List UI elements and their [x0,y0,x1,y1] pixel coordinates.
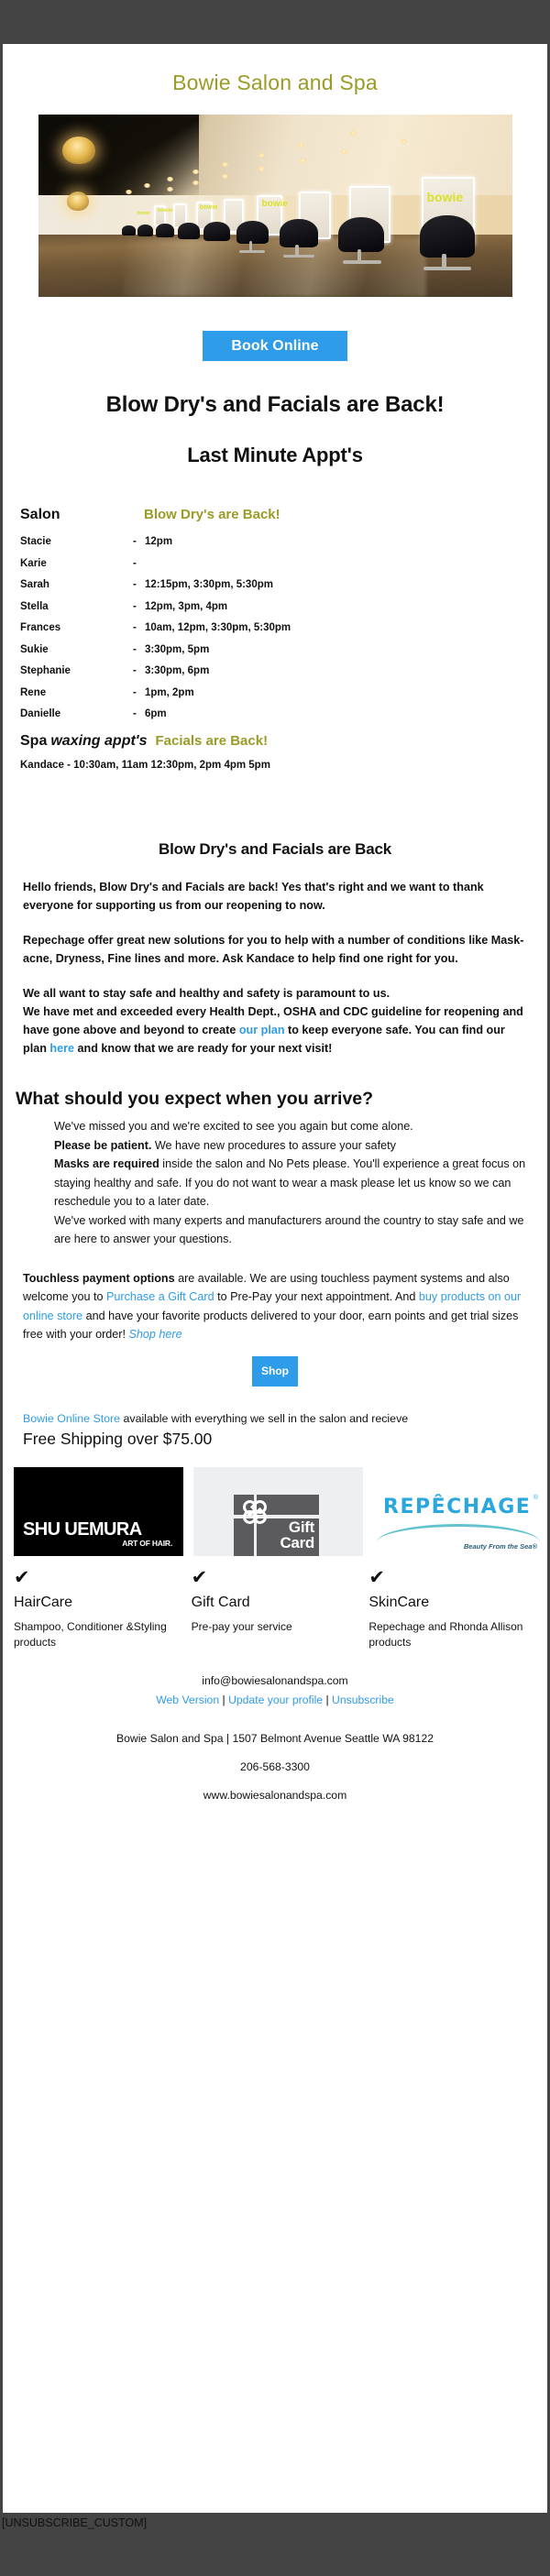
appointments-header: Salon Blow Dry's are Back! [20,507,547,523]
appointment-times: 3:30pm, 6pm [145,665,209,676]
shu-uemura-tagline: ART OF HAIR. [122,1539,172,1548]
check-icon: ✔ [368,1568,536,1588]
stylist-name: Stacie [20,536,133,547]
online-store-line: Bowie Online Store available with everyt… [23,1410,527,1428]
table-row: Sukie - 3:30pm, 5pm [20,644,547,655]
product-info-row: ✔ HairCare Shampoo, Conditioner &Styling… [14,1568,536,1650]
payment-text-2: to Pre-Pay your next appointment. And [214,1290,419,1303]
salon-chair [420,215,475,258]
bowie-wall-logo: bowie [200,204,218,211]
email-body-sheet: Bowie Salon and Spa [3,44,547,2513]
chair-base [239,250,265,253]
ceiling-light-icon [222,174,228,179]
spa-waxing-label: waxing appt's [50,733,147,750]
headline-last-minute-appts: Last Minute Appt's [3,418,547,467]
unsubscribe-link[interactable]: Unsubscribe [332,1694,394,1706]
table-row: Frances - 10am, 12pm, 3:30pm, 5:30pm [20,622,547,633]
ceiling-light-icon [167,187,173,192]
ceiling-light-icon [401,139,407,144]
appointments-list: Salon Blow Dry's are Back! Stacie - 12pm… [3,507,547,771]
salon-chair [137,225,153,236]
free-shipping-text: Free Shipping over $75.00 [23,1430,527,1449]
book-online-button[interactable]: Book Online [203,331,347,361]
headline-what-to-expect: What should you expect when you arrive? [16,1085,547,1110]
expect-bold-patient: Please be patient. [54,1139,151,1152]
bowie-online-store-link[interactable]: Bowie Online Store [23,1412,120,1425]
salon-chair [122,225,136,236]
expect-copy: We've missed you and we're excited to se… [54,1117,527,1249]
stylist-name: Frances [20,622,133,633]
safety-line-4: and know that we are ready for your next… [74,1042,332,1055]
stylist-name: Sukie [20,644,133,655]
appointment-times: 12:15pm, 3:30pm, 5:30pm [145,579,273,590]
hero-image-wrap: bowie bowie bowie bowie bowie [3,115,547,297]
safety-line-1: We all want to stay safe and healthy and… [23,987,390,1000]
salon-chair [178,223,200,239]
business-address: Bowie Salon and Spa | 1507 Belmont Avenu… [3,1732,547,1745]
product-description: Repechage and Rhonda Allison products [368,1619,536,1650]
table-row: Sarah - 12:15pm, 3:30pm, 5:30pm [20,579,547,590]
stylist-name: Stella [20,601,133,612]
blow-dry-tag: Blow Dry's are Back! [144,507,280,522]
payment-copy: Touchless payment options are available.… [23,1269,527,1344]
row-dash: - [133,558,145,569]
product-col-skincare[interactable]: REPÊCHAGE ® Beauty From the Sea® [373,1467,543,1556]
ceiling-light-icon [192,170,199,174]
stylist-name: Rene [20,687,133,698]
ceiling-light-icon [126,190,132,194]
ceiling-light-icon [222,162,228,167]
chair-base [283,255,314,258]
intro-paragraph-1: Hello friends, Blow Dry's and Facials ar… [23,878,527,915]
ceiling-light-icon [167,177,173,181]
bowie-wall-logo: bowie [262,199,288,209]
expect-line-2: We have new procedures to assure your sa… [151,1139,395,1152]
product-description: Shampoo, Conditioner &Styling products [14,1619,181,1650]
expect-line-4: We've worked with many experts and manuf… [54,1214,523,1246]
repechage-wordmark: REPÊCHAGE [383,1496,531,1518]
chair-base [343,260,381,264]
row-dash: - [133,665,145,676]
facials-tag: Facials are Back! [156,733,269,749]
table-row: Rene - 1pm, 2pm [20,687,547,698]
gift-card-label: GiftCard [280,1519,314,1551]
salon-chair [236,221,269,244]
product-col-giftcard[interactable]: GiftCard [193,1467,363,1556]
shop-button-row: Shop [3,1344,547,1387]
page-title: Bowie Salon and Spa [3,44,547,95]
ceiling-light-icon [258,167,265,171]
appointment-times: 1pm, 2pm [145,687,194,698]
row-dash: - [133,622,145,633]
footer-separator: | [323,1694,332,1706]
table-row: Danielle - 6pm [20,708,547,719]
row-dash: - [133,708,145,719]
salon-chair [203,222,230,241]
footer-separator: | [219,1694,228,1706]
row-dash: - [133,579,145,590]
product-description: Pre-pay your service [192,1619,359,1635]
book-online-row: Book Online [3,297,547,361]
ceiling-light-icon [192,181,199,185]
purchase-gift-card-link[interactable]: Purchase a Gift Card [106,1290,214,1303]
appointment-times: 3:30pm, 5pm [145,644,209,655]
table-row: Karie - [20,558,547,569]
ceiling-light-icon [258,153,265,158]
ceiling-light-icon [300,159,306,163]
business-phone: 206-568-3300 [3,1760,547,1773]
appointment-times: 6pm [145,708,167,719]
touchless-bold: Touchless payment options [23,1272,175,1285]
here-link[interactable]: here [49,1042,74,1055]
bowie-wall-logo: bowie [137,211,150,216]
appointment-times: 12pm, 3pm, 4pm [145,601,227,612]
ceiling-light-icon [350,131,357,136]
gift-bow-icon [242,1500,269,1526]
stylist-name: Danielle [20,708,133,719]
product-title: HairCare [14,1595,181,1611]
bowie-wall-logo: bowie [158,208,173,214]
product-col-haircare[interactable]: SHU UEMURA ART OF HAIR. [14,1467,183,1556]
check-icon: ✔ [14,1568,181,1588]
top-dark-bar [0,0,550,44]
bowie-wall-logo: bowie [427,190,464,204]
our-plan-link[interactable]: our plan [239,1024,285,1036]
expect-line-1: We've missed you and we're excited to se… [54,1120,413,1133]
chandelier-icon [62,137,95,164]
stylist-name: Karie [20,558,133,569]
product-info-skincare: ✔ SkinCare Repechage and Rhonda Allison … [368,1568,536,1650]
row-dash: - [133,536,145,547]
appointment-times: 10am, 12pm, 3:30pm, 5:30pm [145,622,291,633]
table-row: Stella - 12pm, 3pm, 4pm [20,601,547,612]
salon-interior-photo: bowie bowie bowie bowie bowie [38,115,512,297]
update-profile-link[interactable]: Update your profile [228,1694,323,1706]
row-dash: - [133,644,145,655]
shu-uemura-wordmark: SHU UEMURA [23,1520,142,1539]
product-info-haircare: ✔ HairCare Shampoo, Conditioner &Styling… [14,1568,181,1650]
intro-copy: Hello friends, Blow Dry's and Facials ar… [23,878,527,1058]
gift-card-image[interactable]: GiftCard [193,1467,363,1556]
ceiling-light-icon [144,183,150,188]
business-website: www.bowiesalonandspa.com [3,1789,547,1802]
stylist-name: Sarah [20,579,133,590]
shu-uemura-logo[interactable]: SHU UEMURA ART OF HAIR. [14,1467,183,1556]
salon-chair [338,217,384,252]
chandelier-icon [67,192,89,211]
repechage-logo[interactable]: REPÊCHAGE ® Beauty From the Sea® [373,1467,543,1556]
shop-here-link[interactable]: Shop here [129,1328,182,1341]
email-page: Bowie Salon and Spa [0,0,550,2576]
appointment-times: 12pm [145,536,172,547]
product-title: Gift Card [192,1595,359,1611]
payment-text-3: and have your favorite products delivere… [23,1310,518,1342]
ceiling-light-icon [341,149,347,154]
table-row: Stacie - 12pm [20,536,547,547]
check-icon: ✔ [192,1568,359,1588]
product-title: SkinCare [368,1595,536,1611]
table-row: Stephanie - 3:30pm, 6pm [20,665,547,676]
spa-label: Spa [20,733,47,750]
shop-button[interactable]: Shop [252,1356,298,1387]
product-logo-row: SHU UEMURA ART OF HAIR. GiftCard [14,1467,536,1556]
headline-blow-dry-facials-back: Blow Dry's and Facials are Back! [3,361,547,418]
repechage-tagline: Beauty From the Sea® [464,1542,537,1551]
table-row: Kandace - 10:30am, 11am 12:30pm, 2pm 4pm… [20,760,547,771]
unsubscribe-custom-token: [UNSUBSCRIBE_CUSTOM] [2,2516,147,2529]
repechage-wave-icon [377,1524,540,1542]
chair-base [423,267,471,270]
stylist-name: Stephanie [20,665,133,676]
spa-section-header: Spa waxing appt's Facials are Back! [20,733,547,750]
registered-mark-icon: ® [533,1495,538,1501]
contact-email: info@bowiesalonandspa.com [3,1674,547,1687]
salon-chair [280,219,318,247]
row-dash: - [133,601,145,612]
web-version-link[interactable]: Web Version [156,1694,219,1706]
hero-dark-corner [38,115,200,199]
intro-paragraph-2: Repechage offer great new solutions for … [23,931,527,968]
online-store-text: available with everything we sell in the… [120,1412,408,1425]
gift-card-graphic: GiftCard [234,1495,319,1556]
row-dash: - [133,687,145,698]
expect-bold-masks: Masks are required [54,1157,159,1170]
product-info-giftcard: ✔ Gift Card Pre-pay your service [192,1568,359,1650]
email-footer: info@bowiesalonandspa.com Web Version | … [3,1674,547,1802]
salon-column-label: Salon [20,507,144,523]
ceiling-light-icon [298,143,304,148]
footer-links: Web Version | Update your profile | Unsu… [3,1694,547,1706]
headline-blow-dry-facials-back-2: Blow Dry's and Facials are Back [3,771,547,859]
salon-chair [156,224,174,237]
intro-paragraph-3: We all want to stay safe and healthy and… [23,984,527,1058]
